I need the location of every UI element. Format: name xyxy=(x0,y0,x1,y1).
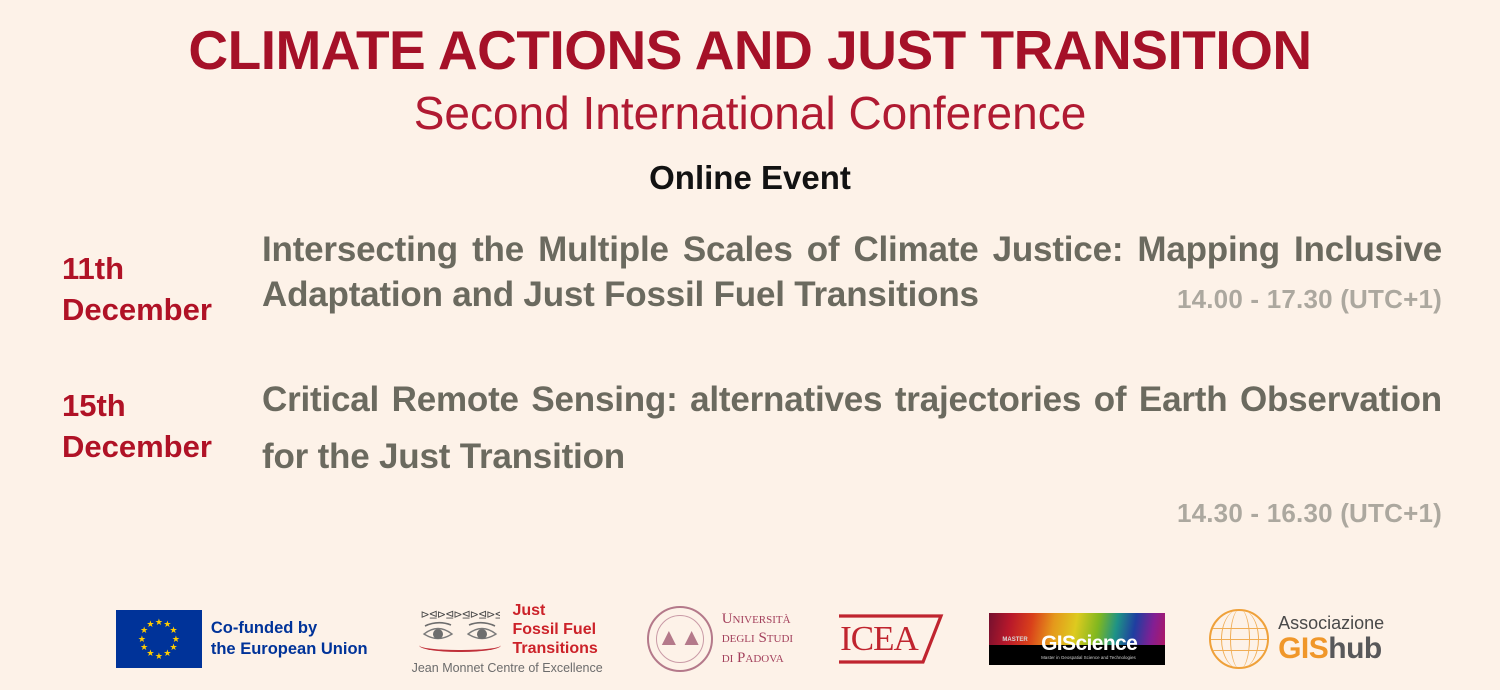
globe-icon xyxy=(1209,609,1269,669)
giscience-fine-print: Master in Geospatial Science and Technol… xyxy=(1041,655,1161,662)
jm-logo-line1: Just xyxy=(512,602,597,621)
eu-star-icon: ★ xyxy=(146,620,155,629)
padova-logo-text: Università degli Studi di Padova xyxy=(722,610,793,669)
session-list: 11th December Intersecting the Multiple … xyxy=(0,227,1500,529)
globe-parallel xyxy=(1209,628,1269,629)
giscience-banner-icon: MASTER GIScience Master in Geospatial Sc… xyxy=(989,613,1165,665)
eu-star-icon: ★ xyxy=(140,643,149,652)
gishub-logo-line1: Associazione xyxy=(1278,614,1384,633)
eyes-face-icon: ⊳⊴⊳⊴⊳⊴⊳⊴⊳⊴⊳⊴⊳⊴ xyxy=(416,608,504,654)
eu-star-icon: ★ xyxy=(163,649,172,658)
giscience-label: GIScience xyxy=(1041,633,1137,654)
jm-logo-line2: Fossil Fuel xyxy=(512,621,597,640)
poster-header: CLIMATE ACTIONS AND JUST TRANSITION Seco… xyxy=(0,0,1500,197)
session-date-month: December xyxy=(62,290,262,331)
jm-logo-text: Just Fossil Fuel Transitions xyxy=(512,602,597,659)
logo-giscience: MASTER GIScience Master in Geospatial Sc… xyxy=(989,613,1165,665)
giscience-master-mark: MASTER xyxy=(996,637,1034,657)
icea-label: ICEA xyxy=(840,620,918,658)
icea-logo-mark: ICEA xyxy=(837,613,945,665)
logo-icea: ICEA xyxy=(837,613,945,665)
session-item: 11th December Intersecting the Multiple … xyxy=(62,227,1442,331)
gishub-logo-text: Associazione GIShub xyxy=(1278,614,1384,664)
session-date: 11th December xyxy=(62,227,262,331)
smile-line-icon xyxy=(419,638,501,652)
session-body: Critical Remote Sensing: alternatives tr… xyxy=(262,372,1442,528)
eu-logo-text: Co-funded by the European Union xyxy=(211,618,368,660)
session-item: 15th December Critical Remote Sensing: a… xyxy=(62,372,1442,528)
session-date-day: 15th xyxy=(62,386,262,427)
logo-just-fossil-fuel-transitions: ⊳⊴⊳⊴⊳⊴⊳⊴⊳⊴⊳⊴⊳⊴ Just Fossil Fuel Transiti… xyxy=(412,602,603,676)
session-date: 15th December xyxy=(62,372,262,468)
page-title: CLIMATE ACTIONS AND JUST TRANSITION xyxy=(0,22,1500,80)
session-date-month: December xyxy=(62,427,262,468)
eu-star-icon: ★ xyxy=(137,635,146,644)
session-date-day: 11th xyxy=(62,249,262,290)
jm-logo-subtitle: Jean Monnet Centre of Excellence xyxy=(412,661,603,676)
eu-flag-icon: ★★★★★★★★★★★★ xyxy=(116,610,202,668)
logo-universita-padova: ▲▲ Università degli Studi di Padova xyxy=(647,606,793,672)
gishub-word-hub: hub xyxy=(1328,632,1381,665)
event-mode-label: Online Event xyxy=(0,160,1500,196)
gishub-wordmark: GIShub xyxy=(1278,633,1384,665)
jm-logo-row: ⊳⊴⊳⊴⊳⊴⊳⊴⊳⊴⊳⊴⊳⊴ Just Fossil Fuel Transiti… xyxy=(416,602,597,659)
padova-seal-figures-icon: ▲▲ xyxy=(649,623,711,653)
logo-european-union: ★★★★★★★★★★★★ Co-funded by the European U… xyxy=(116,610,368,668)
padova-logo-line1: Università xyxy=(722,610,793,630)
eu-logo-line1: Co-funded by xyxy=(211,618,368,639)
gishub-word-gis: GIS xyxy=(1278,632,1328,665)
padova-logo-line3: di Padova xyxy=(722,649,793,669)
globe-parallel xyxy=(1209,639,1269,640)
padova-logo-line2: degli Studi xyxy=(722,629,793,649)
globe-parallel xyxy=(1209,650,1269,651)
sponsor-logo-row: ★★★★★★★★★★★★ Co-funded by the European U… xyxy=(0,602,1500,676)
session-time: 14.30 - 16.30 (UTC+1) xyxy=(262,498,1442,529)
session-body: Intersecting the Multiple Scales of Clim… xyxy=(262,227,1442,316)
eu-logo-line2: the European Union xyxy=(211,639,368,660)
page-subtitle: Second International Conference xyxy=(0,88,1500,139)
logo-associazione-gishub: Associazione GIShub xyxy=(1209,609,1384,669)
padova-seal-icon: ▲▲ xyxy=(647,606,713,672)
jm-logo-line3: Transitions xyxy=(512,640,597,659)
eu-star-icon: ★ xyxy=(154,652,163,661)
conference-poster: CLIMATE ACTIONS AND JUST TRANSITION Seco… xyxy=(0,0,1500,690)
session-title: Critical Remote Sensing: alternatives tr… xyxy=(262,372,1442,485)
